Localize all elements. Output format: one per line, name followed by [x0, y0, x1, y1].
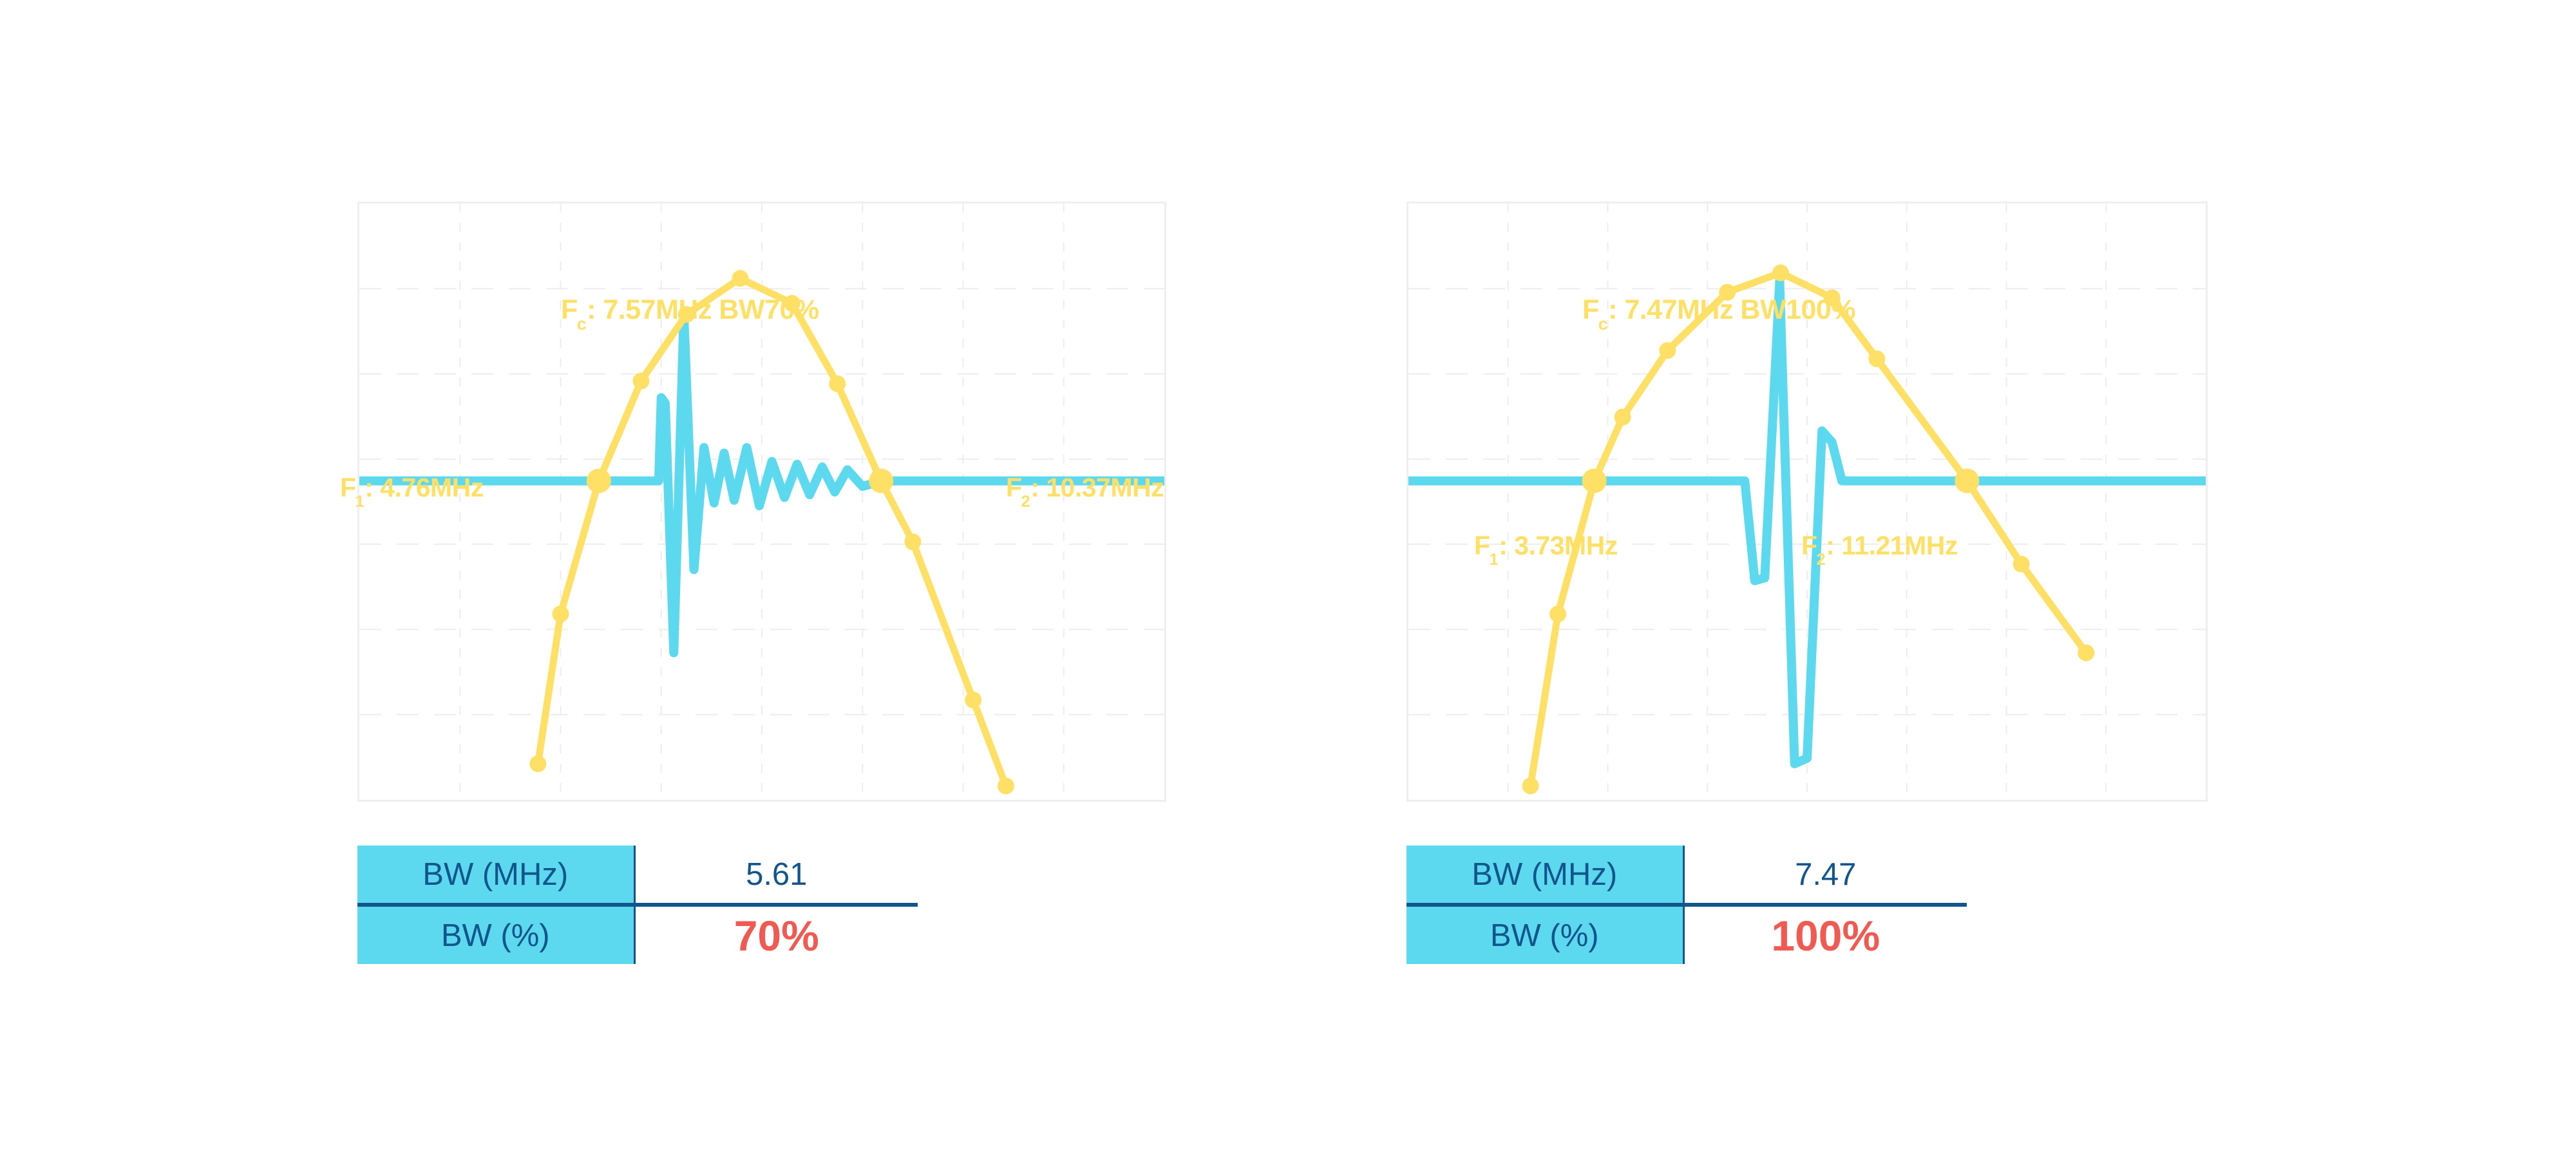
annotation-f1-left: F1: 4.76MHz [340, 473, 484, 507]
bw-table-left: BW (MHz) 5.61 BW (%) 70% [357, 846, 918, 964]
waveform-trace [1408, 281, 2206, 764]
spectrum-data-point [1772, 265, 1789, 281]
annotation-f1-sub-right: 1 [1490, 551, 1499, 569]
annotation-f2-left: F2: 10.37MHz [1006, 473, 1164, 507]
spectrum-data-point [904, 533, 921, 550]
annotation-center-prefix-left: F [561, 294, 578, 325]
annotation-f1-prefix-right: F [1474, 531, 1490, 560]
table-row: BW (%) 100% [1406, 905, 1967, 964]
spectrum-data-point [1549, 605, 1566, 622]
annotation-f2-prefix-right: F [1801, 531, 1817, 560]
annotation-f2-sub-right: 2 [1817, 551, 1826, 569]
chart-panel-right: Fc: 7.47MHz BW100% F1: 3.73MHz F2: 11.21… [1406, 202, 2208, 802]
spectrum-data-point [1522, 777, 1539, 794]
annotation-f1-sub-left: 1 [355, 493, 365, 511]
annotation-f2-prefix-left: F [1006, 473, 1022, 502]
spectrum-data-point [2078, 645, 2094, 661]
annotation-center-text-left: : 7.57MHz BW70% [587, 294, 819, 325]
spectrum-data-point [998, 777, 1014, 794]
chart-svg-right [1408, 203, 2206, 800]
table-row: BW (MHz) 7.47 [1406, 846, 1967, 905]
bw-mhz-label-right: BW (MHz) [1406, 846, 1683, 905]
spectrum-data-point [1955, 469, 1979, 493]
spectrum-data-point [587, 469, 611, 493]
spectrum-data-point [829, 375, 846, 392]
figure-left: Fc: 7.57MHz BW70% F1: 4.76MHz F2: 10.37M… [357, 202, 1166, 804]
figure-right: Fc: 7.47MHz BW100% F1: 3.73MHz F2: 11.21… [1406, 202, 2208, 804]
annotation-center-prefix-right: F [1582, 294, 1599, 325]
bw-pct-label-left: BW (%) [357, 905, 634, 964]
spectrum-data-point [1659, 342, 1676, 359]
bw-table-right: BW (MHz) 7.47 BW (%) 100% [1406, 846, 1967, 964]
annotation-center-text-right: : 7.47MHz BW100% [1608, 294, 1855, 325]
annotation-center-right: Fc: 7.47MHz BW100% [1582, 294, 1855, 330]
bw-pct-value-left: 70% [634, 905, 918, 964]
figure-root: Fc: 7.57MHz BW70% F1: 4.76MHz F2: 10.37M… [0, 0, 2576, 1154]
bw-pct-label-right: BW (%) [1406, 905, 1683, 964]
spectrum-data-point [1615, 409, 1631, 426]
spectrum-data-point [529, 755, 546, 772]
annotation-center-sub-right: c [1598, 314, 1607, 334]
annotation-f1-right: F1: 3.73MHz [1474, 531, 1618, 565]
table-row: BW (MHz) 5.61 [357, 846, 918, 905]
annotation-f2-sub-left: 2 [1021, 493, 1030, 511]
annotation-center-sub-left: c [577, 314, 586, 334]
spectrum-data-point [869, 469, 893, 493]
spectrum-curve [538, 278, 1006, 786]
annotation-f1-prefix-left: F [340, 473, 356, 502]
spectrum-data-point [732, 270, 748, 287]
annotation-f2-text-right: : 11.21MHz [1826, 531, 1958, 560]
annotation-f1-text-left: : 4.76MHz [365, 473, 484, 502]
bw-mhz-label-left: BW (MHz) [357, 846, 634, 905]
annotation-f2-text-left: : 10.37MHz [1030, 473, 1164, 502]
spectrum-data-point [965, 692, 981, 708]
bw-mhz-value-right: 7.47 [1683, 846, 1967, 905]
bw-mhz-value-left: 5.61 [634, 846, 918, 905]
spectrum-data-point [2013, 556, 2030, 572]
bw-pct-value-right: 100% [1683, 905, 1967, 964]
annotation-f1-text-right: : 3.73MHz [1499, 531, 1618, 560]
annotation-center-left: Fc: 7.57MHz BW70% [561, 294, 819, 330]
table-row: BW (%) 70% [357, 905, 918, 964]
spectrum-data-point [1582, 469, 1607, 493]
spectrum-data-point [1868, 350, 1885, 367]
spectrum-data-point [633, 373, 650, 390]
spectrum-data-point [553, 605, 569, 622]
chart-panel-left: Fc: 7.57MHz BW70% F1: 4.76MHz F2: 10.37M… [357, 202, 1166, 802]
annotation-f2-right: F2: 11.21MHz [1801, 531, 1958, 565]
